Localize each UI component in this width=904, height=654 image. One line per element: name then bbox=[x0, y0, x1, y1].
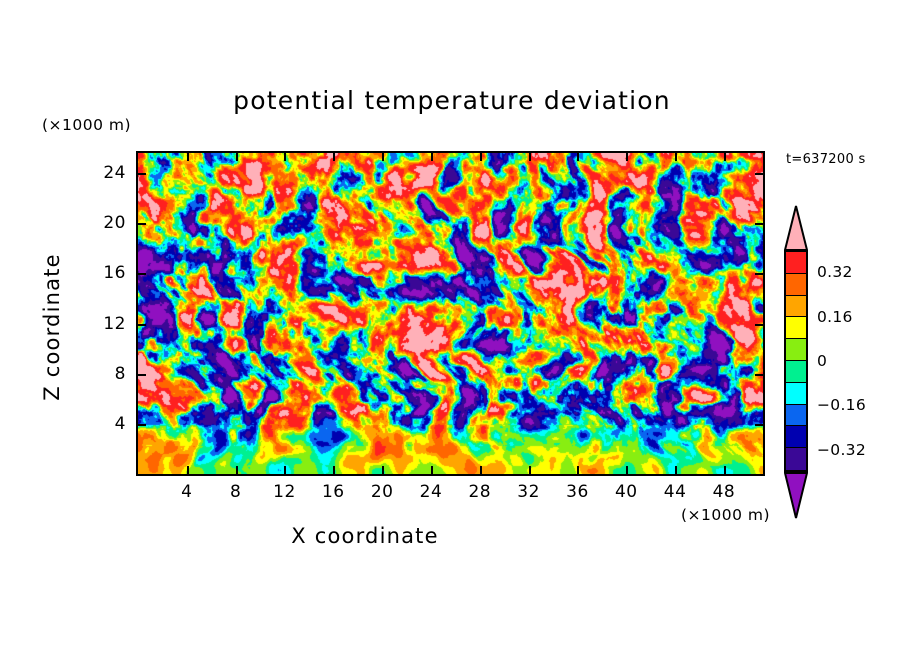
y-axis-tick bbox=[755, 424, 763, 426]
x-axis-tick-label: 12 bbox=[273, 482, 296, 502]
x-axis-tick-label: 44 bbox=[664, 482, 687, 502]
y-axis-tick bbox=[138, 273, 146, 275]
x-axis-tick-label: 20 bbox=[371, 482, 394, 502]
x-axis-tick bbox=[480, 466, 482, 474]
x-axis-tick bbox=[382, 466, 384, 474]
y-axis-tick bbox=[138, 324, 146, 326]
colorbar-bands bbox=[784, 250, 808, 472]
y-axis-tick-label: 12 bbox=[86, 314, 126, 334]
x-axis-tick bbox=[675, 466, 677, 474]
colorbar-tick-label: −0.16 bbox=[817, 396, 866, 414]
x-axis-tick bbox=[724, 153, 726, 161]
colorbar: 0.320.160−0.16−0.32 bbox=[779, 205, 819, 518]
y-axis-tick bbox=[138, 173, 146, 175]
page-title: potential temperature deviation bbox=[0, 86, 904, 115]
x-axis-tick bbox=[187, 466, 189, 474]
x-axis-tick-label: 4 bbox=[181, 482, 192, 502]
time-annotation: t=637200 s bbox=[786, 152, 866, 167]
x-axis-tick-label: 8 bbox=[230, 482, 241, 502]
colorbar-over-cap-icon bbox=[784, 205, 808, 251]
y-axis-tick-label: 20 bbox=[86, 213, 126, 233]
y-axis-title: Z coordinate bbox=[40, 232, 64, 422]
y-axis-tick-label: 16 bbox=[86, 263, 126, 283]
y-axis-tick bbox=[755, 223, 763, 225]
x-axis-tick bbox=[187, 153, 189, 161]
x-axis-tick bbox=[577, 153, 579, 161]
x-axis-tick bbox=[675, 153, 677, 161]
y-axis-tick bbox=[755, 173, 763, 175]
x-axis-tick bbox=[577, 466, 579, 474]
x-axis-tick-label: 16 bbox=[322, 482, 345, 502]
y-axis-tick bbox=[755, 374, 763, 376]
colorbar-tick-label: 0.32 bbox=[817, 263, 853, 281]
colorbar-tick-label: 0.16 bbox=[817, 308, 853, 326]
colorbar-band-5 bbox=[786, 361, 806, 383]
contour-plot-area bbox=[136, 151, 765, 476]
x-axis-tick bbox=[529, 466, 531, 474]
x-axis-tick bbox=[284, 466, 286, 474]
x-axis-tick bbox=[333, 466, 335, 474]
x-axis-tick bbox=[480, 153, 482, 161]
y-axis-tick bbox=[755, 273, 763, 275]
x-axis-tick-label: 48 bbox=[713, 482, 736, 502]
colorbar-band-4 bbox=[786, 339, 806, 361]
colorbar-band-8 bbox=[786, 426, 806, 448]
x-axis-tick bbox=[626, 153, 628, 161]
x-axis-tick bbox=[529, 153, 531, 161]
y-axis-tick bbox=[755, 324, 763, 326]
y-axis-tick bbox=[138, 223, 146, 225]
x-axis-tick-label: 24 bbox=[420, 482, 443, 502]
x-axis-tick bbox=[284, 153, 286, 161]
x-axis-tick bbox=[431, 466, 433, 474]
x-axis-unit-label: (×1000 m) bbox=[681, 506, 770, 524]
y-axis-tick bbox=[138, 374, 146, 376]
colorbar-band-6 bbox=[786, 383, 806, 405]
y-axis-tick-label: 24 bbox=[86, 163, 126, 183]
x-axis-tick bbox=[431, 153, 433, 161]
colorbar-band-7 bbox=[786, 405, 806, 427]
colorbar-band-2 bbox=[786, 296, 806, 318]
colorbar-tick-label: 0 bbox=[817, 352, 827, 370]
colorbar-band-1 bbox=[786, 274, 806, 296]
x-axis-tick bbox=[626, 466, 628, 474]
x-axis-title: X coordinate bbox=[0, 524, 730, 548]
y-axis-tick-label: 4 bbox=[86, 414, 126, 434]
z-axis-unit-label: (×1000 m) bbox=[42, 116, 131, 134]
x-axis-tick bbox=[724, 466, 726, 474]
colorbar-band-9 bbox=[786, 448, 806, 470]
colorbar-band-3 bbox=[786, 317, 806, 339]
x-axis-tick bbox=[236, 466, 238, 474]
x-axis-tick-label: 28 bbox=[468, 482, 491, 502]
colorbar-under-cap-icon bbox=[784, 471, 808, 519]
x-axis-tick-label: 36 bbox=[566, 482, 589, 502]
x-axis-tick bbox=[333, 153, 335, 161]
colorbar-tick-label: −0.32 bbox=[817, 441, 866, 459]
x-axis-tick-label: 32 bbox=[517, 482, 540, 502]
y-axis-tick-label: 8 bbox=[86, 364, 126, 384]
x-axis-tick bbox=[236, 153, 238, 161]
contour-field bbox=[138, 153, 763, 474]
x-axis-tick bbox=[382, 153, 384, 161]
y-axis-tick bbox=[138, 424, 146, 426]
colorbar-band-0 bbox=[786, 252, 806, 274]
x-axis-tick-label: 40 bbox=[615, 482, 638, 502]
